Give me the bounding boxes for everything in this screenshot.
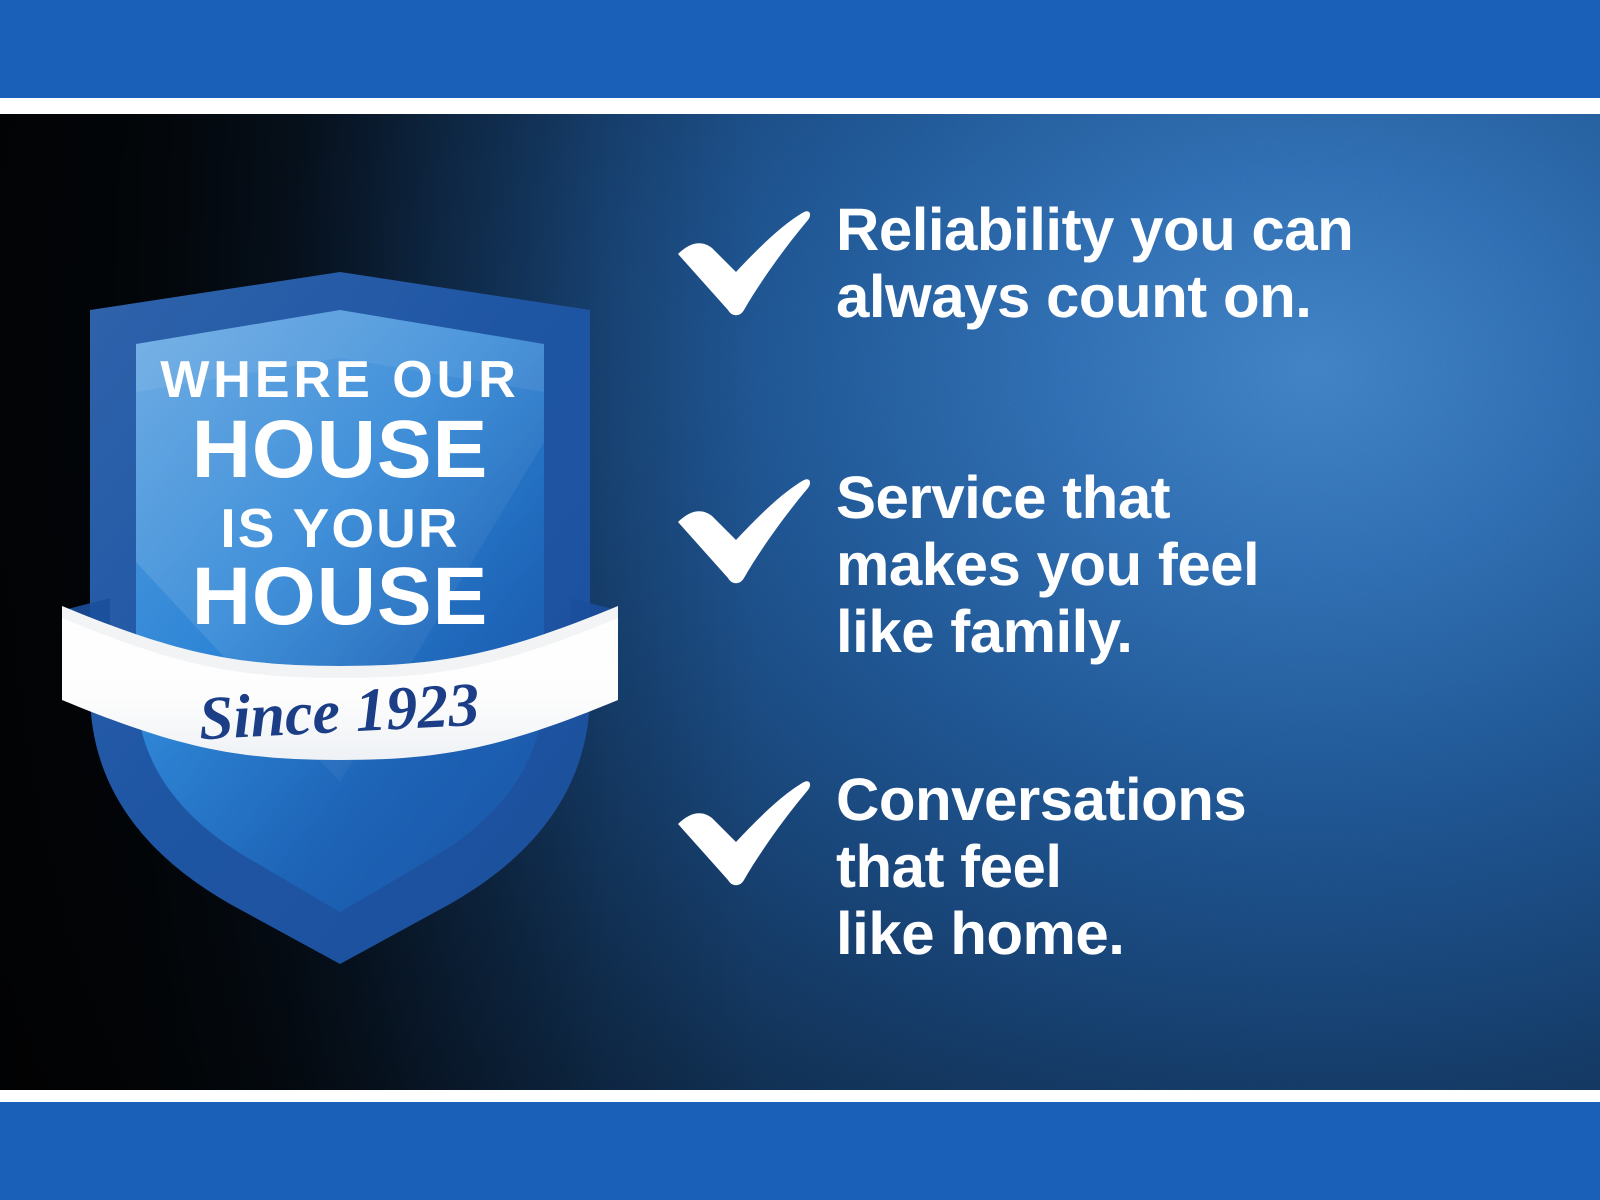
benefit-2-line-3: like family.: [836, 598, 1556, 665]
top-brand-bar: [0, 0, 1600, 98]
tagline-line-1: WHERE OUR: [160, 351, 520, 409]
benefits-list: Reliability you can always count on. Ser…: [660, 96, 1560, 956]
benefit-3-line-2: that feel: [836, 833, 1556, 900]
checkmark-icon: [674, 776, 814, 888]
shield-badge: WHERE OUR HOUSE IS YOUR HOUSE Since 1923: [58, 262, 618, 952]
promo-graphic: WHERE OUR HOUSE IS YOUR HOUSE Since 1923: [0, 0, 1600, 1200]
benefit-text-1: Reliability you can always count on.: [836, 196, 1556, 330]
bottom-brand-bar: [0, 1102, 1600, 1200]
tagline-line-4: HOUSE: [192, 551, 489, 642]
benefit-text-3: Conversations that feel like home.: [836, 766, 1556, 967]
checkmark-icon: [674, 474, 814, 586]
benefit-1-line-1: Reliability you can: [836, 196, 1556, 263]
benefit-3-line-1: Conversations: [836, 766, 1556, 833]
tagline-line-3: IS YOUR: [220, 497, 459, 559]
benefit-1-line-2: always count on.: [836, 263, 1556, 330]
benefit-2-line-2: makes you feel: [836, 531, 1556, 598]
checkmark-icon: [674, 206, 814, 318]
benefit-3-line-3: like home.: [836, 900, 1556, 967]
tagline-line-2: HOUSE: [192, 404, 489, 495]
benefit-2-line-1: Service that: [836, 464, 1556, 531]
bottom-white-rule: [0, 1090, 1600, 1102]
benefit-text-2: Service that makes you feel like family.: [836, 464, 1556, 665]
